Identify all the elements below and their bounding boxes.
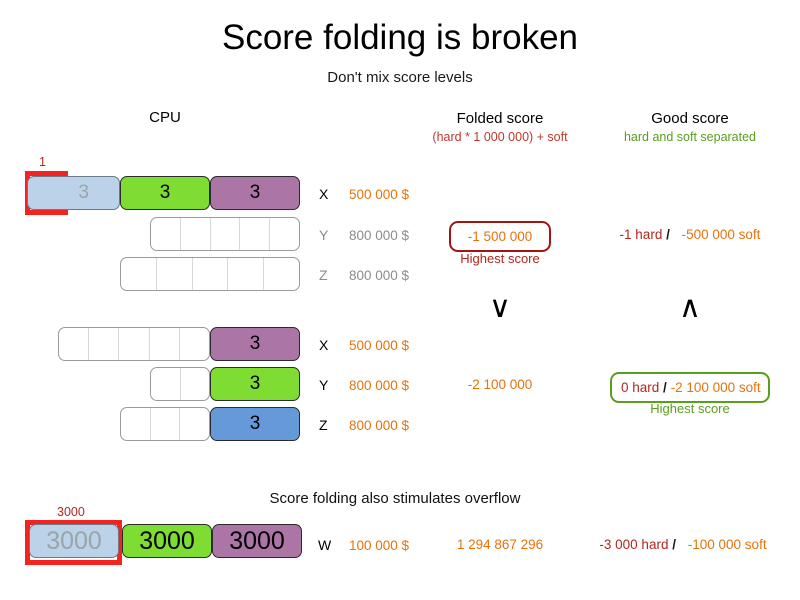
row-cost-g3-w: 100 000 $ bbox=[349, 538, 409, 553]
highlight-label-group-1: 1 bbox=[39, 155, 46, 169]
track-cell bbox=[270, 218, 299, 250]
segment-g2-x-0[interactable]: 3 bbox=[210, 327, 300, 361]
segment-g3-w-2[interactable]: 3000 bbox=[212, 524, 302, 558]
folded-score-g3: 1 294 867 296 bbox=[440, 537, 560, 552]
row-cost-g2-z: 800 000 $ bbox=[349, 418, 409, 433]
page-title: Score folding is broken bbox=[0, 18, 800, 58]
folded-score-g1: -1 500 000 bbox=[449, 221, 551, 252]
good-score-hard-g2: 0 hard bbox=[621, 380, 659, 395]
track-cell bbox=[180, 328, 209, 360]
track-cell bbox=[157, 258, 193, 290]
cpu-track-g2-y[interactable] bbox=[150, 367, 210, 401]
row-cost-g1-y: 800 000 $ bbox=[349, 228, 409, 243]
segment-g3-w-0[interactable]: 3000 bbox=[29, 524, 119, 558]
comparator-folded: ∨ bbox=[450, 293, 550, 323]
good-score-g2: 0 hard / -2 100 000 soft bbox=[610, 372, 770, 403]
track-cell bbox=[121, 258, 157, 290]
segment-g1-x-2[interactable]: 3 bbox=[210, 176, 300, 210]
folded-score-g2: -2 100 000 bbox=[440, 377, 560, 392]
row-label-g2-x: X bbox=[319, 337, 328, 353]
segment-g1-x-1[interactable]: 3 bbox=[120, 176, 210, 210]
section-header-overflow: Score folding also stimulates overflow bbox=[200, 490, 590, 507]
folded-caption-g1: Highest score bbox=[440, 251, 560, 266]
track-cell bbox=[150, 328, 180, 360]
good-score-hard-g1: -1 hard bbox=[620, 227, 663, 242]
column-subheader-folded: (hard * 1 000 000) + soft bbox=[400, 130, 600, 144]
track-cell bbox=[211, 218, 241, 250]
row-cost-g1-z: 800 000 $ bbox=[349, 268, 409, 283]
track-cell bbox=[119, 328, 149, 360]
page-subtitle: Don't mix score levels bbox=[0, 69, 800, 86]
good-score-separator-g1: / bbox=[666, 227, 670, 242]
good-score-separator-g2: / bbox=[663, 380, 667, 395]
row-label-g3-w: W bbox=[318, 537, 331, 553]
segment-g3-w-1[interactable]: 3000 bbox=[122, 524, 212, 558]
good-score-g1: -1 hard / -500 000 soft bbox=[606, 227, 774, 242]
good-score-separator-g3: / bbox=[672, 537, 676, 552]
column-header-good: Good score bbox=[600, 110, 780, 127]
track-cell bbox=[264, 258, 299, 290]
cpu-track-g2-z[interactable] bbox=[120, 407, 210, 441]
row-label-g1-x: X bbox=[319, 186, 328, 202]
segment-g2-z-0[interactable]: 3 bbox=[210, 407, 300, 441]
row-cost-g2-x: 500 000 $ bbox=[349, 338, 409, 353]
column-header-cpu: CPU bbox=[105, 109, 225, 126]
row-label-g2-z: Z bbox=[319, 417, 328, 433]
track-cell bbox=[121, 408, 151, 440]
track-cell bbox=[59, 328, 89, 360]
good-score-g3: -3 000 hard / -100 000 soft bbox=[588, 537, 778, 552]
track-cell bbox=[151, 218, 181, 250]
good-caption-g2: Highest score bbox=[630, 401, 750, 416]
cpu-track-g2-x[interactable] bbox=[58, 327, 210, 361]
track-cell bbox=[181, 218, 211, 250]
good-score-soft-g3: -100 000 soft bbox=[688, 537, 767, 552]
cpu-track-g1-y[interactable] bbox=[150, 217, 300, 251]
row-cost-g2-y: 800 000 $ bbox=[349, 378, 409, 393]
good-score-hard-g3: -3 000 hard bbox=[599, 537, 668, 552]
row-label-g1-y: Y bbox=[319, 227, 328, 243]
segment-g1-x-0[interactable]: 3 bbox=[27, 176, 120, 210]
track-cell bbox=[181, 368, 210, 400]
column-header-folded: Folded score bbox=[410, 110, 590, 127]
row-label-g2-y: Y bbox=[319, 377, 328, 393]
segment-g2-y-0[interactable]: 3 bbox=[210, 367, 300, 401]
good-score-soft-g1: -500 000 soft bbox=[682, 227, 761, 242]
track-cell bbox=[151, 408, 181, 440]
track-cell bbox=[193, 258, 229, 290]
cpu-track-g1-z[interactable] bbox=[120, 257, 300, 291]
track-cell bbox=[151, 368, 181, 400]
row-label-g1-z: Z bbox=[319, 267, 328, 283]
slide-canvas: Score folding is broken Don't mix score … bbox=[0, 0, 800, 600]
row-cost-g1-x: 500 000 $ bbox=[349, 187, 409, 202]
track-cell bbox=[240, 218, 270, 250]
highlight-label-group-3: 3000 bbox=[57, 505, 85, 519]
track-cell bbox=[228, 258, 264, 290]
column-subheader-good: hard and soft separated bbox=[595, 130, 785, 144]
good-score-soft-g2: -2 100 000 soft bbox=[671, 380, 761, 395]
comparator-good: ∧ bbox=[640, 293, 740, 323]
track-cell bbox=[89, 328, 119, 360]
track-cell bbox=[180, 408, 209, 440]
